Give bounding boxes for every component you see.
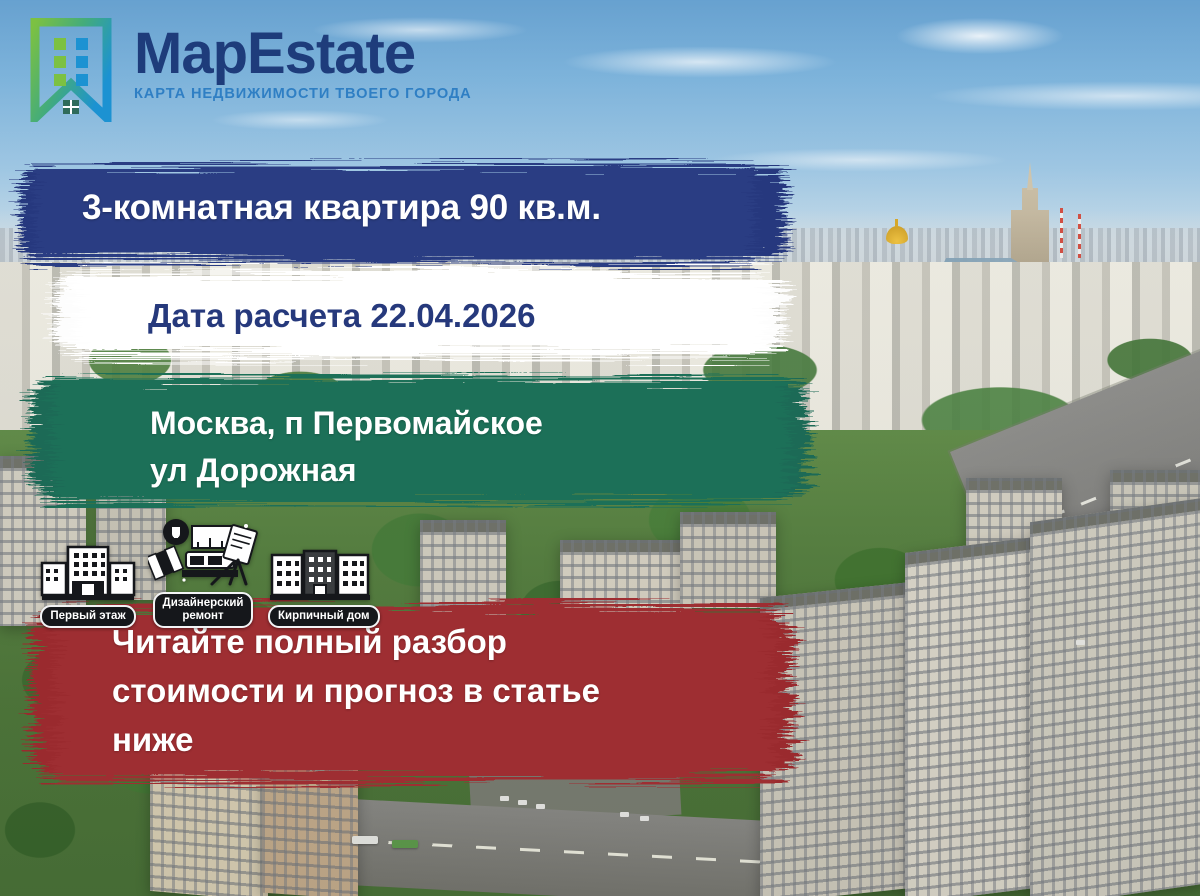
radio-mast	[1060, 208, 1063, 258]
address-line-2: ул Дорожная	[150, 447, 790, 494]
building-block	[680, 512, 776, 608]
property-address: Москва, п Первомайское ул Дорожная	[150, 400, 790, 493]
vehicle	[620, 812, 629, 817]
brand-tagline: КАРТА НЕДВИЖИМОСТИ ТВОЕГО ГОРОДА	[134, 86, 472, 102]
feature-badge-first-floor[interactable]: Первый этаж	[38, 541, 138, 628]
vehicle	[1076, 640, 1085, 645]
property-title: 3-комнатная квартира 90 кв.м.	[82, 188, 782, 228]
feature-badge-designer-renovation[interactable]: Дизайнерский ремонт	[148, 518, 258, 628]
vehicle	[392, 840, 418, 848]
apartment-building-icon	[38, 541, 138, 603]
address-line-1: Москва, п Первомайское	[150, 400, 790, 447]
vehicle	[518, 800, 527, 805]
golden-dome-icon	[886, 226, 908, 244]
poster-canvas: MapEstate КАРТА НЕДВИЖИМОСТИ ТВОЕГО ГОРО…	[0, 0, 1200, 896]
building-block	[905, 537, 1035, 896]
feature-badge-brick-house[interactable]: Кирпичный дом	[268, 541, 380, 628]
vehicle	[536, 804, 545, 809]
cta-text: Читайте полный разбор стоимости и прогно…	[112, 618, 772, 764]
feature-badges: Первый этаж	[38, 518, 380, 628]
feature-badge-label: Кирпичный дом	[268, 605, 380, 628]
building-block	[1030, 498, 1200, 896]
brick-house-icon	[268, 541, 380, 603]
brand-logo[interactable]: MapEstate КАРТА НЕДВИЖИМОСТИ ТВОЕГО ГОРО…	[30, 18, 472, 122]
designer-renovation-icon	[148, 518, 258, 590]
cta-line-3: ниже	[112, 716, 772, 765]
radio-mast	[1078, 214, 1081, 258]
vehicle	[640, 816, 649, 821]
calculation-date: Дата расчета 22.04.2026	[148, 297, 788, 335]
bookmark-building-icon	[30, 18, 112, 122]
feature-badge-label: Первый этаж	[40, 605, 135, 628]
cta-line-2: стоимости и прогноз в статье	[112, 667, 772, 716]
vehicle	[352, 836, 378, 844]
feature-badge-label: Дизайнерский ремонт	[153, 592, 254, 628]
vehicle	[500, 796, 509, 801]
brand-name: MapEstate	[134, 26, 472, 82]
